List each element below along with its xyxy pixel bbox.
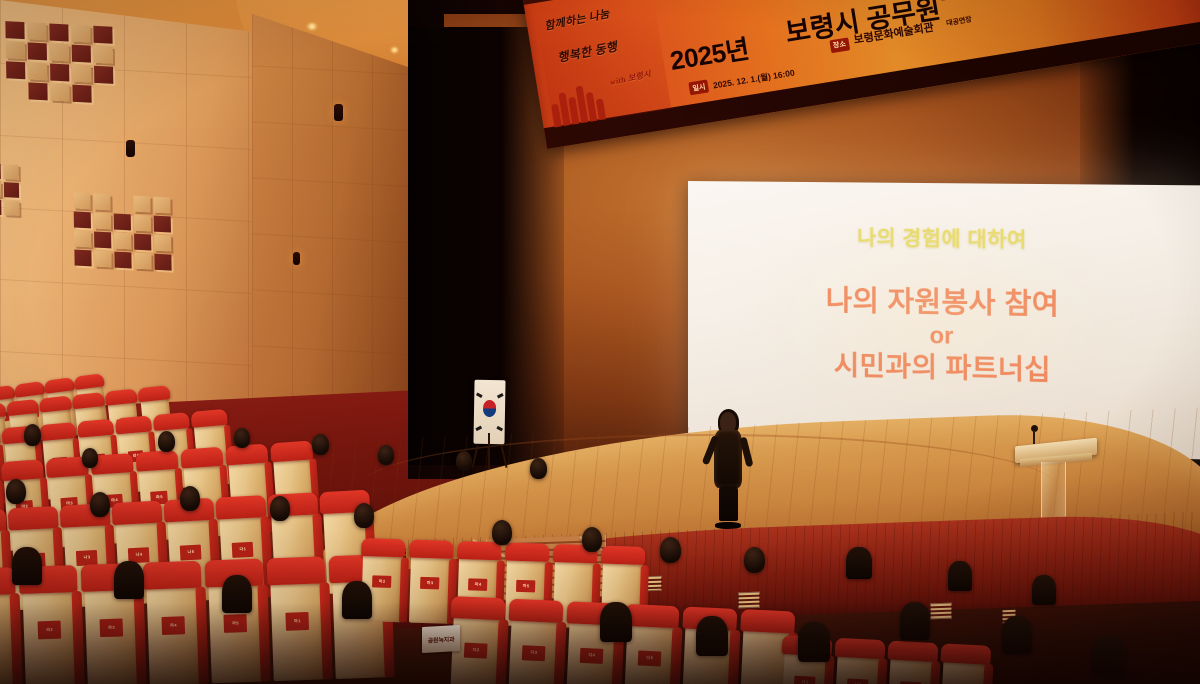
seat-number-plate: 라 3 (99, 619, 124, 638)
seat-number-plate: 다 4 (580, 648, 603, 664)
audience-member (900, 602, 930, 640)
audience-member (158, 431, 175, 452)
wall-sconce-light (334, 104, 343, 121)
audience-member (24, 424, 41, 446)
audience-member (492, 520, 512, 545)
slide-line-2: 시민과의 파트너십 (825, 349, 1058, 389)
audience-member (114, 561, 144, 599)
acoustic-block-panel (74, 192, 172, 270)
seat-row: 라 1 라 2 라 3 라 4 라 5 마 1 (0, 564, 388, 684)
banner-place-sub: 대공연장 (946, 15, 973, 29)
seat-number-plate: 다 3 (522, 645, 545, 661)
seat: 라 4 (146, 571, 202, 684)
acoustic-block-panel-edge (0, 163, 19, 216)
seat: 나 2 (834, 645, 882, 684)
audience-member (660, 537, 681, 563)
audience-member (582, 527, 602, 552)
wall-tile-grid-far (252, 9, 420, 429)
seat: 라 1 (0, 577, 16, 684)
audience-member (600, 602, 632, 642)
audience-member (456, 451, 472, 471)
seat (940, 651, 988, 684)
slide-line-1: 나의 자원봉사 참여 (825, 283, 1058, 323)
seat-number-plate: 라 5 (223, 615, 248, 634)
seat: 다 3 (508, 607, 560, 684)
seat-number-plate: 마 3 (421, 577, 440, 590)
audience-member (234, 428, 250, 448)
seat-number-plate: 마 4 (469, 578, 488, 591)
auditorium-photo: 함께하는 나눔 행복한 동행 with 보령시 2025년 보령시 공무원 자원… (0, 0, 1200, 684)
audience-member (6, 479, 26, 504)
slide-title: 나의 경험에 대하여 (857, 222, 1027, 254)
seat-number-plate: 마 5 (517, 580, 536, 593)
seat-number-plate: 나 5 (180, 545, 201, 561)
seat-number-plate: 마 1 (285, 612, 310, 631)
audience-member (342, 581, 372, 619)
audience-member (744, 547, 765, 573)
audience-member (948, 561, 972, 591)
audience-member (798, 622, 830, 662)
audience-member (82, 448, 98, 468)
banner-date-tag: 일시 (689, 80, 710, 96)
acoustic-block-panel (5, 21, 113, 104)
audience-member (1092, 636, 1126, 678)
audience-member (12, 547, 42, 585)
wall-sconce-light (293, 252, 300, 265)
seat: 마 3 (409, 546, 451, 623)
reserved-seat-sign-label: 공원녹지과 (428, 634, 455, 644)
audience-member (1032, 575, 1056, 605)
seat-number-plate: 다 5 (638, 651, 661, 667)
wall-sconce-light (126, 140, 135, 157)
audience-member (180, 486, 200, 511)
banner-year: 2025년 (667, 29, 751, 78)
seat-number-plate: 다 2 (464, 643, 487, 659)
seat-number-plate: 나 2 (847, 678, 868, 684)
banner-place-tag: 장소 (829, 38, 850, 54)
seat: 마 1 (270, 567, 326, 682)
slide-connector: or (825, 319, 1058, 353)
audience-member (530, 458, 547, 479)
reserved-seat-sign: 공원녹지과 (422, 625, 460, 653)
recessed-downlight (390, 47, 399, 53)
audience-member (696, 616, 728, 656)
audience-member (90, 492, 110, 517)
seat-number-plate: 나 1 (794, 676, 815, 684)
audience-member (270, 496, 290, 521)
audience-member (1002, 616, 1032, 654)
seat: 라 2 (22, 575, 78, 684)
seat: 나 3 (887, 648, 935, 684)
seat-number-plate: 라 2 (37, 621, 62, 640)
audience-member (312, 434, 329, 455)
seat-number-plate: 다 1 (232, 542, 253, 558)
slide-body: 나의 자원봉사 참여 or 시민과의 파트너십 (825, 283, 1058, 389)
audience-member (846, 547, 872, 579)
audience-member (222, 575, 252, 613)
seat-number-plate: 마 2 (373, 575, 392, 588)
seat-number-plate: 라 4 (161, 617, 186, 636)
left-wall-far-segment (252, 14, 420, 424)
audience-member (378, 445, 394, 465)
audience-member (354, 503, 374, 528)
